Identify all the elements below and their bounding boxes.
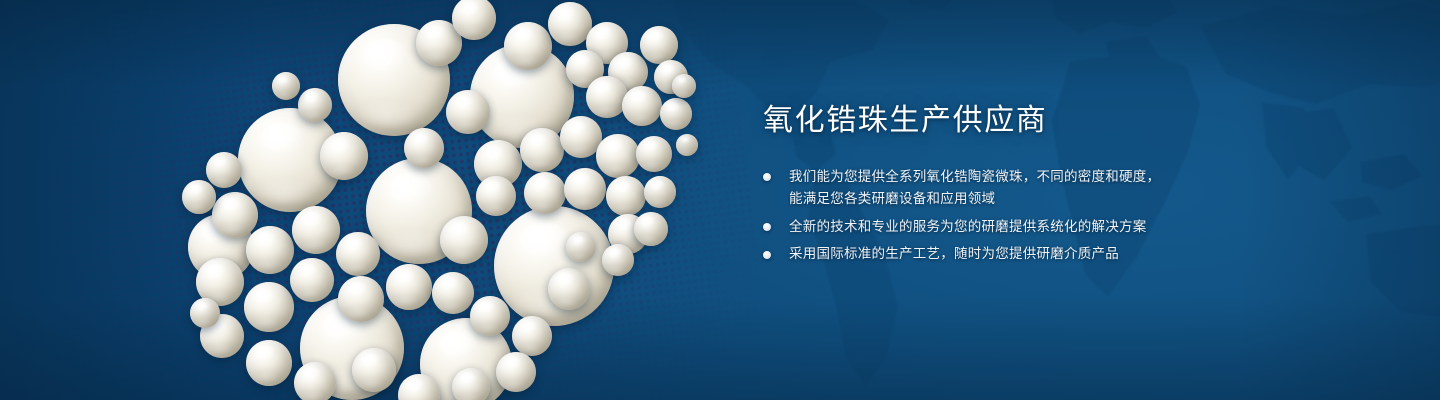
bead-medium — [548, 268, 590, 310]
bead-medium — [636, 136, 672, 172]
bead-medium — [336, 232, 380, 276]
bead-medium — [452, 0, 496, 40]
bead-medium — [524, 172, 566, 214]
bead-medium — [440, 216, 488, 264]
bead-small — [246, 340, 292, 386]
bead-small — [672, 74, 696, 98]
bead-medium — [644, 176, 676, 208]
page-title: 氧化锆珠生产供应商 — [763, 104, 1233, 138]
list-item: 全新的技术和专业的服务为您的研磨提供系统化的解决方案 — [763, 216, 1233, 239]
bead-medium — [504, 22, 552, 70]
banner-copy: 氧化锆珠生产供应商 我们能为您提供全系列氧化锆陶瓷微珠，不同的密度和硬度， 能满… — [763, 104, 1233, 271]
hero-banner: 氧化锆珠生产供应商 我们能为您提供全系列氧化锆陶瓷微珠，不同的密度和硬度， 能满… — [0, 0, 1440, 400]
bead-medium — [244, 282, 294, 332]
zirconia-beads-cluster — [0, 0, 760, 400]
list-item-label: 全新的技术和专业的服务为您的研磨提供系统化的解决方案 — [789, 216, 1233, 239]
list-item-label: 采用国际标准的生产工艺，随时为您提供研磨介质产品 — [789, 243, 1233, 266]
bead-medium — [386, 264, 432, 310]
bead-small — [602, 244, 634, 276]
bead-medium — [512, 316, 552, 356]
bead-medium — [446, 90, 490, 134]
bead-medium — [586, 76, 628, 118]
bead-medium — [338, 276, 384, 322]
feature-list: 我们能为您提供全系列氧化锆陶瓷微珠，不同的密度和硬度， 能满足您各类研磨设备和应… — [763, 166, 1233, 266]
bead-small — [298, 88, 332, 122]
bead-large — [494, 206, 614, 326]
bead-small — [272, 72, 300, 100]
bead-medium — [564, 168, 606, 210]
bead-medium — [660, 98, 692, 130]
bead-medium — [476, 176, 516, 216]
bead-small — [676, 134, 698, 156]
list-item: 我们能为您提供全系列氧化锆陶瓷微珠，不同的密度和硬度， 能满足您各类研磨设备和应… — [763, 166, 1233, 211]
bead-medium — [640, 26, 678, 64]
bead-medium — [470, 296, 510, 336]
list-item-label: 我们能为您提供全系列氧化锆陶瓷微珠，不同的密度和硬度， 能满足您各类研磨设备和应… — [789, 166, 1233, 211]
bead-small — [294, 362, 336, 400]
bead-medium — [404, 128, 444, 168]
bullet-dot-icon — [763, 173, 771, 181]
bead-medium — [292, 206, 340, 254]
list-item: 采用国际标准的生产工艺，随时为您提供研磨介质产品 — [763, 243, 1233, 266]
bullet-dot-icon — [763, 223, 771, 231]
bead-medium — [212, 192, 258, 238]
bead-medium — [432, 272, 474, 314]
bead-medium — [596, 134, 640, 178]
bead-small — [352, 348, 396, 392]
bead-medium — [520, 128, 564, 172]
bead-medium — [320, 132, 368, 180]
bead-small — [452, 368, 490, 400]
bead-small — [182, 180, 216, 214]
bead-small — [206, 152, 242, 188]
bead-small — [634, 212, 668, 246]
bead-medium — [606, 176, 646, 216]
bead-small — [190, 298, 220, 328]
bullet-dot-icon — [763, 251, 771, 259]
bead-small — [496, 352, 536, 392]
bead-medium — [622, 86, 662, 126]
bead-medium — [246, 226, 294, 274]
bead-medium — [290, 258, 334, 302]
bead-small — [566, 232, 596, 262]
